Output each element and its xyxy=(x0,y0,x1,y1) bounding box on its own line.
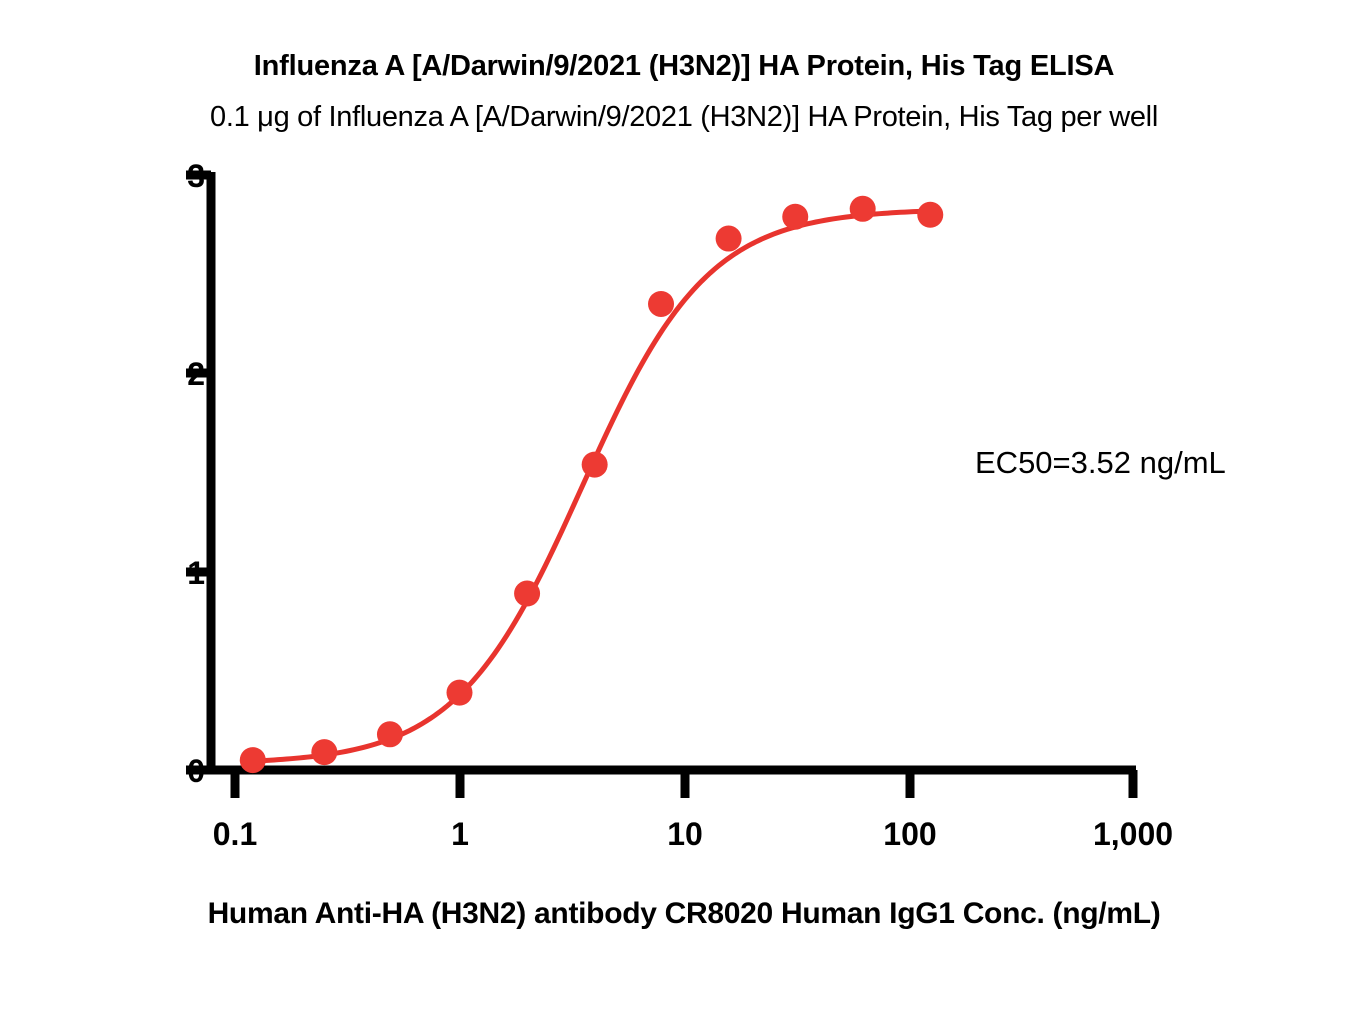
data-point xyxy=(514,581,540,607)
data-point xyxy=(648,291,674,317)
plot-area xyxy=(0,0,1368,1032)
fit-curve xyxy=(253,211,930,761)
data-point xyxy=(447,680,473,706)
data-point xyxy=(377,721,403,747)
data-point xyxy=(917,202,943,228)
data-point xyxy=(782,204,808,230)
elisa-chart-figure: Influenza A [A/Darwin/9/2021 (H3N2)] HA … xyxy=(0,0,1368,1032)
data-point xyxy=(850,196,876,222)
data-point xyxy=(311,739,337,765)
data-point xyxy=(240,747,266,773)
data-point xyxy=(582,452,608,478)
data-point xyxy=(716,226,742,252)
data-point-group xyxy=(240,196,943,773)
